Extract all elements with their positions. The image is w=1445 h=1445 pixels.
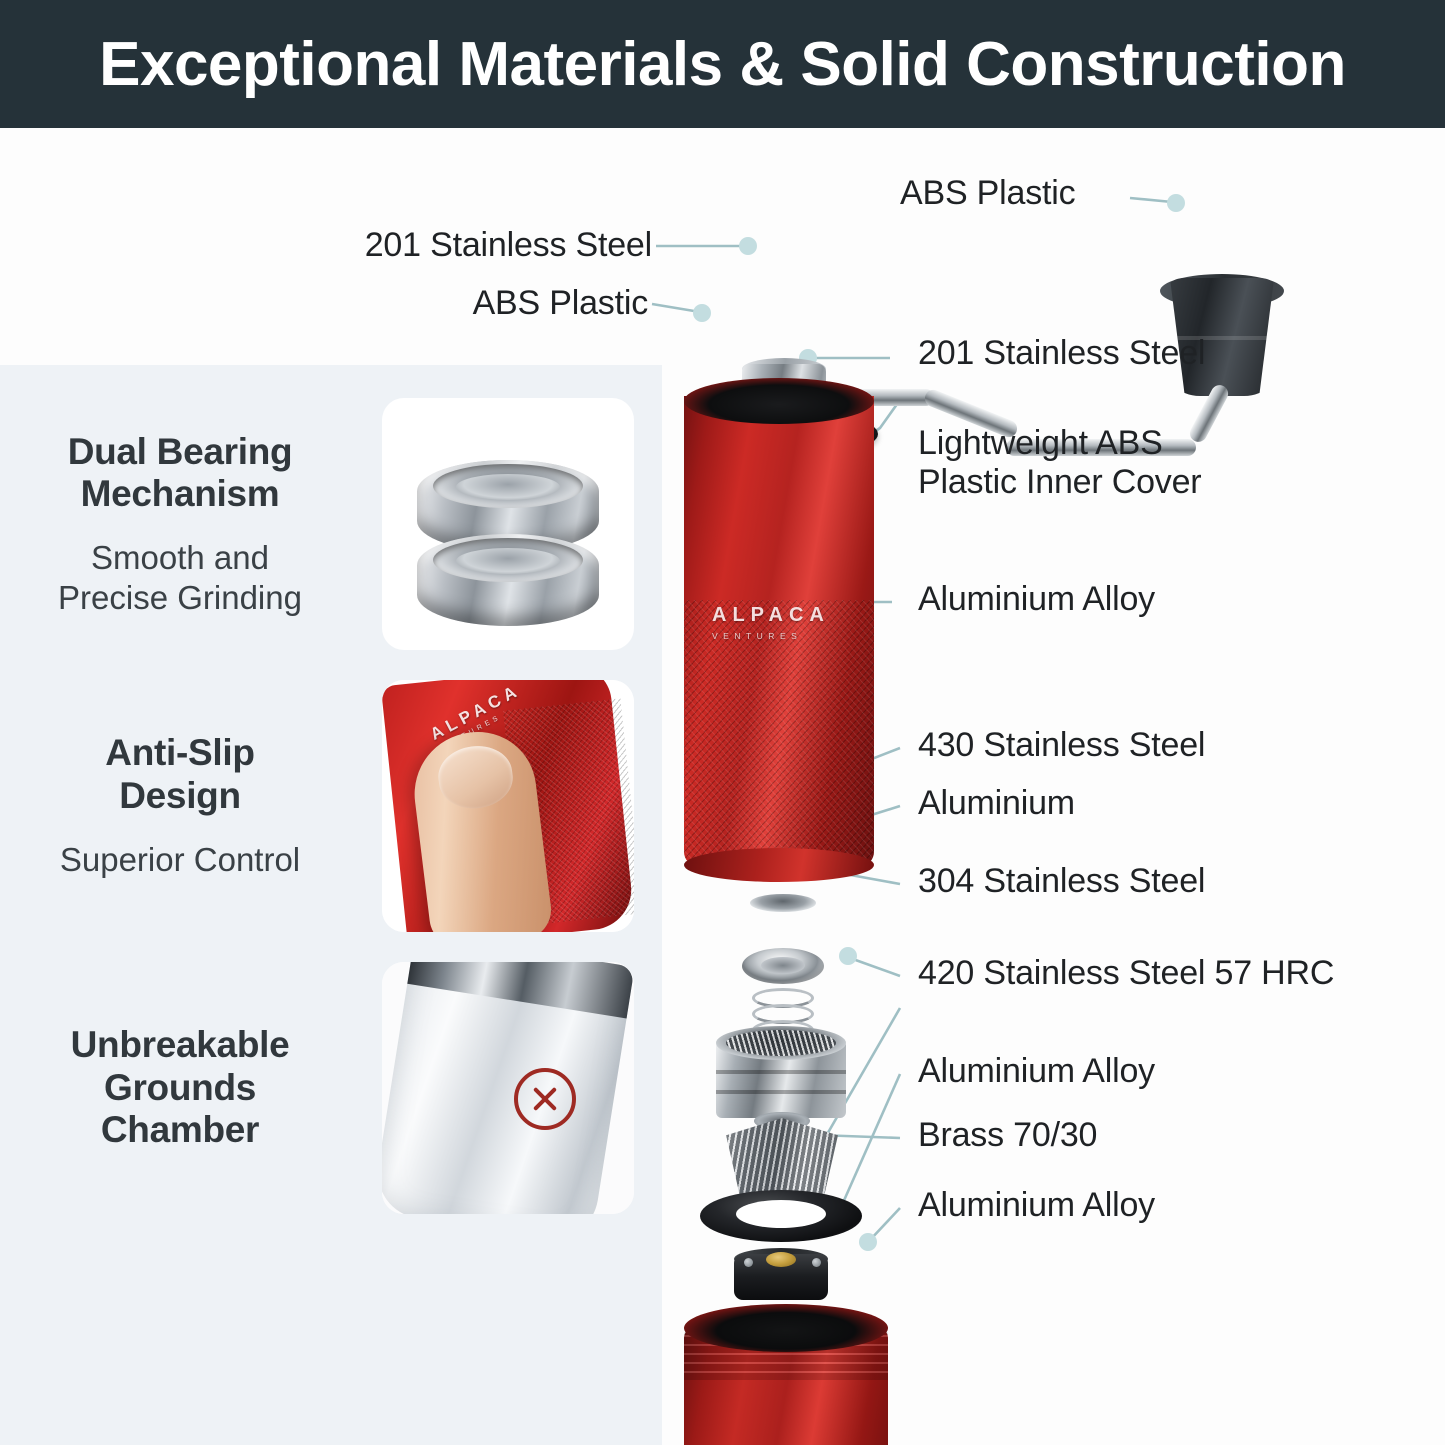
burr-ring-band <box>716 1070 846 1074</box>
callout-430-stainless-steel: 430 Stainless Steel <box>918 726 1205 765</box>
callout-abs-plastic-knob: ABS Plastic <box>900 174 1075 213</box>
callout-aluminium-alloy-body: Aluminium Alloy <box>918 580 1155 619</box>
burr-ring-band <box>716 1090 846 1094</box>
brand-name: ALPACA <box>712 604 830 626</box>
callout-304-stainless-steel: 304 Stainless Steel <box>918 862 1205 901</box>
infographic-page: Exceptional Materials & Solid Constructi… <box>0 0 1445 1445</box>
grounds-catch-cup-aluminium <box>684 1304 888 1445</box>
callout-lightweight-abs-inner-cover: Lightweight ABS Plastic Inner Cover <box>918 424 1318 502</box>
callout-201-stainless-steel-shaft: 201 Stainless Steel <box>918 334 1205 373</box>
callout-aluminium-washer: Aluminium <box>918 784 1075 823</box>
burr-teeth <box>726 1030 836 1056</box>
body-brand-logo: ALPACA VENTURES <box>712 604 830 641</box>
callout-aluminium-alloy-cup: Aluminium Alloy <box>918 1186 1155 1225</box>
main-body-aluminium: ALPACA VENTURES <box>684 378 874 868</box>
callout-line1: Lightweight ABS <box>918 424 1318 463</box>
callout-201-stainless-steel-nut: 201 Stainless Steel <box>304 226 652 265</box>
callout-abs-plastic-cover: ABS Plastic <box>304 284 648 323</box>
cup-mouth-opening <box>684 1304 888 1352</box>
ring-center-hole <box>736 1200 826 1228</box>
adjuster-screw <box>812 1258 821 1267</box>
adjuster-screw <box>744 1258 753 1267</box>
exploded-product-diagram: ALPACA VENTURES <box>0 128 1445 1445</box>
callout-420-stainless-steel-57hrc: 420 Stainless Steel 57 HRC <box>918 954 1334 993</box>
body-mouth-opening <box>684 378 874 424</box>
bearing-430ss <box>744 892 822 936</box>
brass-nut-7030 <box>766 1252 796 1267</box>
brand-sub: VENTURES <box>712 631 830 641</box>
callout-aluminium-alloy-ring: Aluminium Alloy <box>918 1052 1155 1091</box>
callout-brass-70-30: Brass 70/30 <box>918 1116 1097 1155</box>
header-banner: Exceptional Materials & Solid Constructi… <box>0 0 1445 128</box>
washer-aluminium <box>742 948 824 984</box>
page-title: Exceptional Materials & Solid Constructi… <box>99 29 1346 100</box>
outer-burr-ring-420ss <box>716 1026 846 1124</box>
callout-line2: Plastic Inner Cover <box>918 463 1318 502</box>
body-bottom-edge <box>684 848 874 882</box>
